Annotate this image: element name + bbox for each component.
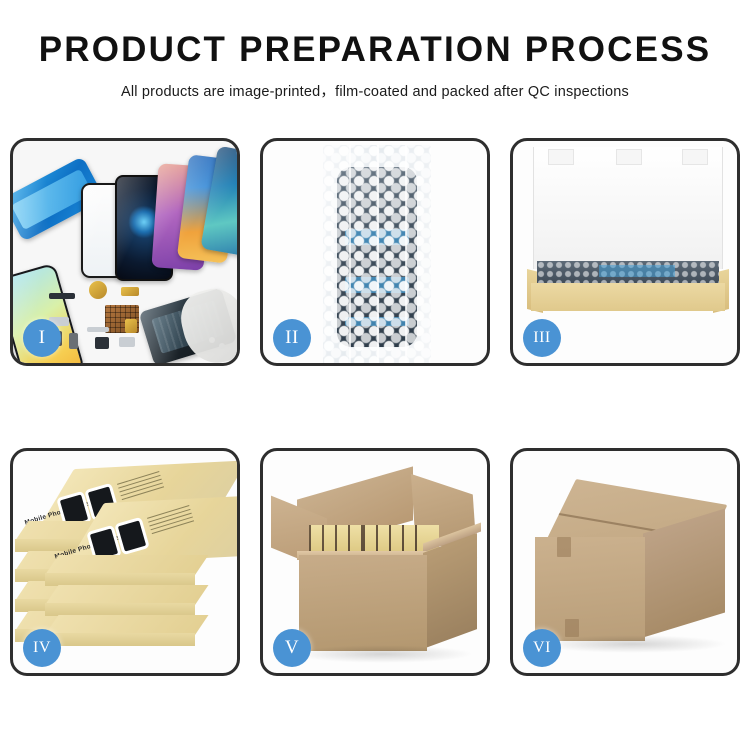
- carton-side-panel: [423, 533, 477, 649]
- part-speaker-icon: [95, 337, 109, 349]
- bubble-wrap-bag: [323, 145, 431, 363]
- step-panel-bubble-wrapped-part[interactable]: II: [260, 138, 490, 366]
- page-title: PRODUCT PREPARATION PROCESS: [0, 32, 750, 69]
- step-3-illustration: III: [513, 141, 737, 363]
- step-5-illustration: V: [263, 451, 487, 673]
- part-button-icon: [69, 333, 78, 349]
- part-coil-icon: [89, 281, 107, 299]
- step-badge-3: III: [523, 319, 561, 357]
- step-4-illustration: Mobile Phone Spare Parts Mobile Phone Sp…: [13, 451, 237, 673]
- step-panel-carton-filled[interactable]: V: [260, 448, 490, 676]
- process-steps-grid: I II: [10, 138, 740, 683]
- tape-strip-bottom-icon: [565, 619, 579, 637]
- step-badge-6: VI: [523, 629, 561, 667]
- step-panel-carton-sealed[interactable]: VI: [510, 448, 740, 676]
- step-1-illustration: I: [13, 141, 237, 363]
- step-panel-inner-box-packing[interactable]: III: [510, 138, 740, 366]
- part-clip-icon: [119, 337, 135, 347]
- inner-tray-icon: [531, 261, 725, 311]
- carton-front-panel: [299, 555, 427, 651]
- product-preparation-infographic: PRODUCT PREPARATION PROCESS All products…: [0, 0, 750, 750]
- step-2-illustration: II: [263, 141, 487, 363]
- box-lid-icon: [533, 147, 723, 269]
- sealed-carton-front: [535, 537, 645, 641]
- step-panel-stacked-retail-boxes[interactable]: Mobile Phone Spare Parts Mobile Phone Sp…: [10, 448, 240, 676]
- step-badge-1: I: [23, 319, 61, 357]
- part-flex-strip-icon: [49, 293, 75, 299]
- header: PRODUCT PREPARATION PROCESS All products…: [0, 0, 750, 101]
- page-subtitle: All products are image-printed，film-coat…: [0, 80, 750, 101]
- part-gold-connector-icon: [121, 287, 139, 296]
- step-6-illustration: VI: [513, 451, 737, 673]
- tape-strip-top-icon: [557, 537, 571, 557]
- step-badge-4: IV: [23, 629, 61, 667]
- part-cable-icon: [87, 327, 109, 332]
- step-panel-phone-screens-and-spare-parts[interactable]: I: [10, 138, 240, 366]
- step-badge-5: V: [273, 629, 311, 667]
- part-sim-tray-icon: [125, 319, 137, 333]
- step-badge-2: II: [273, 319, 311, 357]
